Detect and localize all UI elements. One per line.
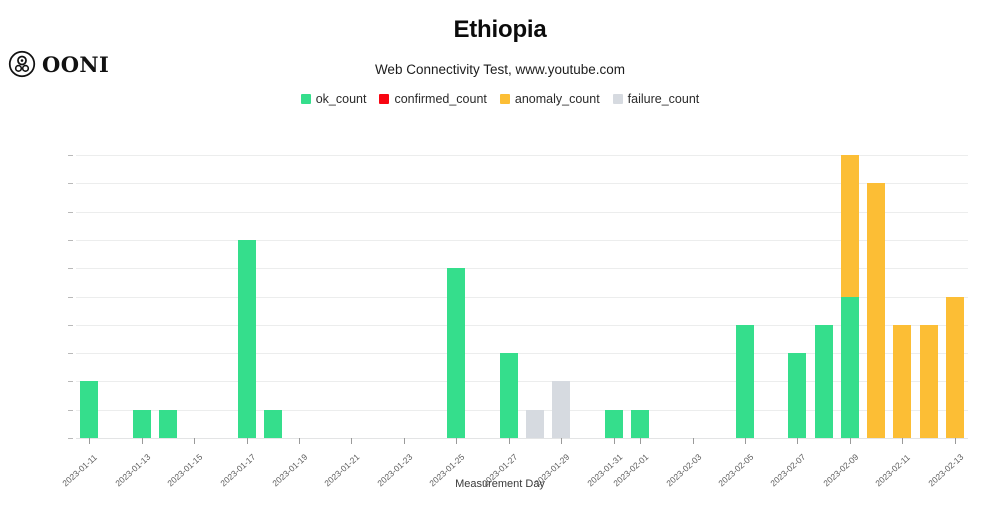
bar-2023-01-13[interactable] bbox=[133, 410, 151, 438]
y-tick-mark bbox=[68, 240, 73, 241]
bar-2023-01-25[interactable] bbox=[447, 268, 465, 438]
chart-subtitle: Web Connectivity Test, www.youtube.com bbox=[0, 62, 1000, 77]
bar-segment-ok-count bbox=[500, 353, 518, 438]
bar-segment-ok-count bbox=[736, 325, 754, 438]
y-tick-mark bbox=[68, 438, 73, 439]
legend-item-failure-count[interactable]: failure_count bbox=[613, 92, 700, 106]
y-gridline bbox=[76, 381, 968, 382]
y-tick-mark bbox=[68, 325, 73, 326]
bar-segment-anomaly-count bbox=[867, 183, 885, 438]
x-tick-mark bbox=[640, 438, 641, 444]
x-tick-mark bbox=[247, 438, 248, 444]
legend-swatch-icon bbox=[613, 94, 623, 104]
bar-segment-ok-count bbox=[605, 410, 623, 438]
y-tick-mark bbox=[68, 381, 73, 382]
x-tick-mark bbox=[142, 438, 143, 444]
legend-swatch-icon bbox=[379, 94, 389, 104]
bar-segment-anomaly-count bbox=[841, 155, 859, 297]
bar-segment-ok-count bbox=[815, 325, 833, 438]
y-gridline bbox=[76, 240, 968, 241]
bar-2023-01-18[interactable] bbox=[264, 410, 282, 438]
x-tick-mark bbox=[614, 438, 615, 444]
bar-2023-02-13[interactable] bbox=[946, 297, 964, 439]
x-tick-mark bbox=[89, 438, 90, 444]
bar-segment-ok-count bbox=[788, 353, 806, 438]
x-tick-mark bbox=[693, 438, 694, 444]
y-gridline bbox=[76, 353, 968, 354]
legend-item-label: confirmed_count bbox=[394, 92, 486, 106]
y-gridline bbox=[76, 268, 968, 269]
bar-2023-02-08[interactable] bbox=[815, 325, 833, 438]
y-gridline bbox=[76, 410, 968, 411]
legend-swatch-icon bbox=[301, 94, 311, 104]
y-tick-mark bbox=[68, 155, 73, 156]
chart-legend: ok_countconfirmed_countanomaly_countfail… bbox=[0, 92, 1000, 106]
bar-2023-02-09[interactable] bbox=[841, 155, 859, 438]
y-tick-mark bbox=[68, 268, 73, 269]
chart-title: Ethiopia bbox=[0, 16, 1000, 44]
bar-2023-02-10[interactable] bbox=[867, 183, 885, 438]
chart-page: OONI Ethiopia Web Connectivity Test, www… bbox=[0, 0, 1000, 527]
x-tick-mark bbox=[745, 438, 746, 444]
bar-segment-anomaly-count bbox=[946, 297, 964, 439]
bar-2023-02-11[interactable] bbox=[893, 325, 911, 438]
bar-2023-01-27[interactable] bbox=[500, 353, 518, 438]
bar-segment-ok-count bbox=[841, 297, 859, 439]
y-tick-mark bbox=[68, 353, 73, 354]
bar-2023-01-31[interactable] bbox=[605, 410, 623, 438]
bar-segment-ok-count bbox=[264, 410, 282, 438]
y-gridline bbox=[76, 155, 968, 156]
y-gridline bbox=[76, 183, 968, 184]
bar-segment-anomaly-count bbox=[893, 325, 911, 438]
x-tick-mark bbox=[299, 438, 300, 444]
y-tick-mark bbox=[68, 183, 73, 184]
x-tick-mark bbox=[351, 438, 352, 444]
x-tick-mark bbox=[850, 438, 851, 444]
legend-item-anomaly-count[interactable]: anomaly_count bbox=[500, 92, 600, 106]
y-gridline bbox=[76, 212, 968, 213]
bar-segment-ok-count bbox=[133, 410, 151, 438]
x-tick-mark bbox=[509, 438, 510, 444]
bar-segment-ok-count bbox=[631, 410, 649, 438]
legend-item-label: failure_count bbox=[628, 92, 700, 106]
bar-2023-02-05[interactable] bbox=[736, 325, 754, 438]
bar-2023-02-07[interactable] bbox=[788, 353, 806, 438]
bar-segment-failure-count bbox=[552, 381, 570, 438]
x-axis-title: Measurement Day bbox=[0, 478, 1000, 490]
y-tick-mark bbox=[68, 410, 73, 411]
x-tick-mark bbox=[797, 438, 798, 444]
bar-2023-01-29[interactable] bbox=[552, 381, 570, 438]
x-tick-mark bbox=[194, 438, 195, 444]
bar-2023-01-11[interactable] bbox=[80, 381, 98, 438]
bar-segment-ok-count bbox=[80, 381, 98, 438]
x-tick-mark bbox=[955, 438, 956, 444]
plot-area: 0123456789102023-01-112023-01-132023-01-… bbox=[76, 155, 968, 438]
legend-item-ok-count[interactable]: ok_count bbox=[301, 92, 367, 106]
bar-segment-anomaly-count bbox=[920, 325, 938, 438]
bar-segment-ok-count bbox=[159, 410, 177, 438]
x-tick-mark bbox=[902, 438, 903, 444]
y-tick-mark bbox=[68, 297, 73, 298]
bar-2023-02-12[interactable] bbox=[920, 325, 938, 438]
bar-2023-01-28[interactable] bbox=[526, 410, 544, 438]
y-tick-mark bbox=[68, 212, 73, 213]
y-gridline bbox=[76, 297, 968, 298]
bar-segment-ok-count bbox=[447, 268, 465, 438]
bar-2023-01-17[interactable] bbox=[238, 240, 256, 438]
x-tick-mark bbox=[456, 438, 457, 444]
x-tick-mark bbox=[404, 438, 405, 444]
legend-swatch-icon bbox=[500, 94, 510, 104]
y-gridline bbox=[76, 438, 968, 439]
bar-segment-failure-count bbox=[526, 410, 544, 438]
bar-segment-ok-count bbox=[238, 240, 256, 438]
legend-item-label: ok_count bbox=[316, 92, 367, 106]
x-tick-mark bbox=[561, 438, 562, 444]
legend-item-confirmed-count[interactable]: confirmed_count bbox=[379, 92, 486, 106]
bar-2023-02-01[interactable] bbox=[631, 410, 649, 438]
y-gridline bbox=[76, 325, 968, 326]
legend-item-label: anomaly_count bbox=[515, 92, 600, 106]
bar-2023-01-14[interactable] bbox=[159, 410, 177, 438]
